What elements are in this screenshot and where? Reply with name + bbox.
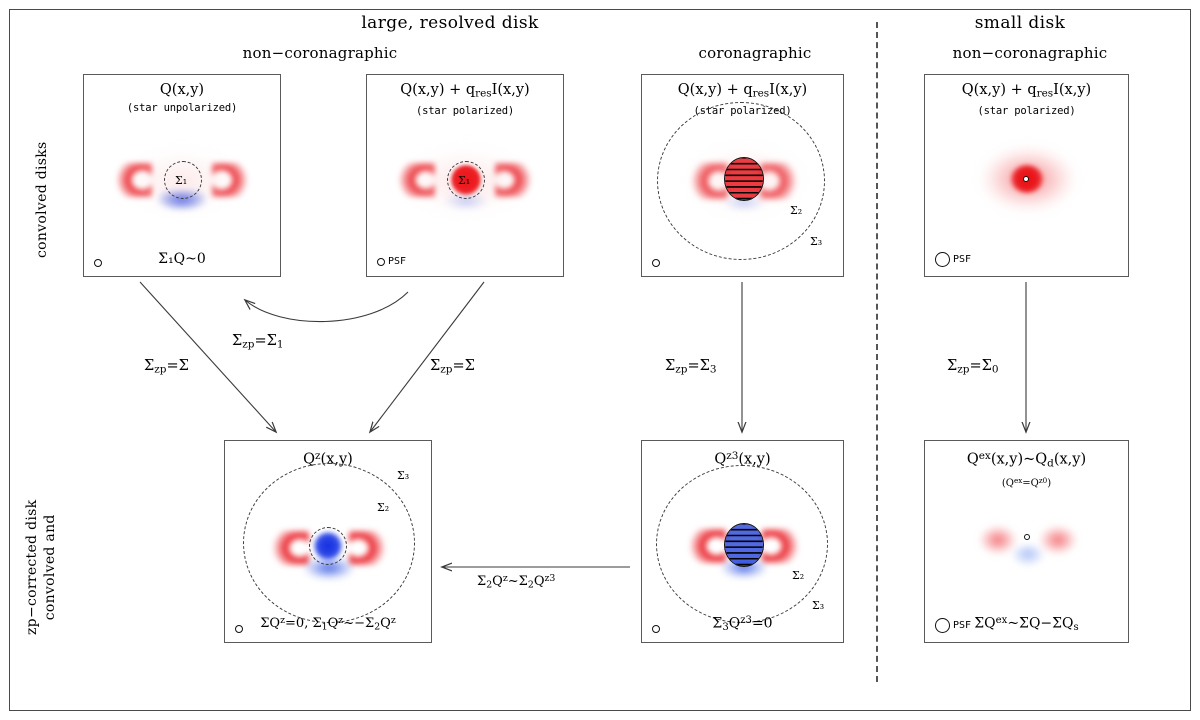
aperture-sigma1-label: Σ₁ xyxy=(458,174,470,187)
arrow-label-zp-sigma-0: Σzp=Σ0 xyxy=(947,358,999,376)
psf-marker-qex: PSF xyxy=(935,618,971,633)
red-lobe-right xyxy=(1041,527,1075,553)
row-label-zp-corrected: zp−corrected disk convolved and xyxy=(24,500,59,635)
sigma2-label: Σ₂ xyxy=(792,569,804,582)
disk-image-q-polarized: Σ₁ xyxy=(367,75,563,276)
psf-marker-coronagraphic xyxy=(652,259,663,267)
coronagraph-mask-icon xyxy=(724,523,764,567)
section-divider xyxy=(876,22,878,682)
disk-image-qz: Σ₃ Σ₂ xyxy=(225,441,431,642)
row-label-zp-line2: zp−corrected disk xyxy=(24,500,42,635)
psf-circle-icon xyxy=(94,259,102,267)
psf-marker-small-disk: PSF xyxy=(935,252,971,267)
star-center-dot xyxy=(1024,534,1030,540)
red-lobe-right xyxy=(762,529,808,563)
arrow-label-zp-sigma-mid: Σzp=Σ xyxy=(430,358,475,376)
psf-circle-icon xyxy=(235,625,243,633)
row-label-zp-line1: convolved and xyxy=(42,500,60,635)
arrow-label-zp-sigma-3: Σzp=Σ3 xyxy=(665,358,717,376)
panel-qz3: Qz3(x,y) xyxy=(641,440,844,643)
psf-marker-label: PSF xyxy=(953,620,971,631)
group-title-small-disk: small disk xyxy=(900,13,1140,33)
mask-hatch-lines xyxy=(724,157,764,201)
psf-circle-icon xyxy=(652,625,660,633)
psf-circle-icon xyxy=(377,258,385,266)
arrow-label-zp-sigma-left: Σzp=Σ xyxy=(144,358,189,376)
figure-root: large, resolved disk small disk non−coro… xyxy=(0,0,1200,720)
disk-image-q-unpolarized: Σ₁ xyxy=(84,75,280,276)
disk-image-qex xyxy=(925,441,1128,642)
column-title-noncoronagraphic-left: non−coronagraphic xyxy=(75,44,565,62)
panel-q-polarized: Q(x,y) + qresI(x,y) (star polarized) Σ₁ … xyxy=(366,74,564,277)
disk-image-qz3: Σ₂ Σ₃ xyxy=(642,441,843,642)
aperture-sigma1-label: Σ₁ xyxy=(175,174,187,187)
panel-qz3-footer: Σ3Qz3=0 xyxy=(642,615,843,633)
sigma2-label: Σ₂ xyxy=(377,501,389,514)
aperture-sigma1 xyxy=(309,527,347,565)
disk-image-coronagraphic: Σ₂ Σ₃ xyxy=(642,75,843,276)
psf-marker-qz xyxy=(235,625,246,633)
psf-circle-icon xyxy=(935,618,950,633)
sigma3-label: Σ₃ xyxy=(397,469,409,482)
sigma3-label: Σ₃ xyxy=(812,599,824,612)
panel-qex: Qex(x,y)~Qd(x,y) (Qex=Qz0) ΣQex~ΣQ−ΣQs P… xyxy=(924,440,1129,643)
mask-hatch-lines xyxy=(724,523,764,567)
column-title-noncoronagraphic-right: non−coronagraphic xyxy=(905,44,1155,62)
column-title-coronagraphic: coronagraphic xyxy=(630,44,880,62)
panel-qz: Qz(x,y) Σ₃ Σ₂ ΣQz=0, Σ1Qz~−Σ2Qz xyxy=(224,440,432,643)
psf-marker-label: PSF xyxy=(953,254,971,265)
panel-coronagraphic: Q(x,y) + qresI(x,y) (star polarized) xyxy=(641,74,844,277)
sigma2-label: Σ₂ xyxy=(790,204,802,217)
psf-circle-icon xyxy=(652,259,660,267)
star-center-dot xyxy=(1023,176,1029,182)
psf-marker-q-unpolarized xyxy=(94,259,105,267)
psf-marker-label: PSF xyxy=(388,256,406,267)
arrow-label-zp-sigma-1: Σzp=Σ1 xyxy=(232,333,284,351)
group-title-large-resolved-disk: large, resolved disk xyxy=(190,13,710,33)
psf-marker-q-polarized: PSF xyxy=(377,256,406,267)
coronagraph-mask-icon xyxy=(724,157,764,201)
row-label-convolved-disks: convolved disks xyxy=(34,142,50,259)
panel-small-disk: Q(x,y) + qresI(x,y) (star polarized) PSF xyxy=(924,74,1129,277)
disk-image-small-disk xyxy=(925,75,1128,276)
psf-circle-icon xyxy=(935,252,950,267)
panel-qz-footer: ΣQz=0, Σ1Qz~−Σ2Qz xyxy=(225,615,431,633)
arrow-label-sigma2-equivalence: Σ2Qz~Σ2Qz3 xyxy=(477,573,555,591)
panel-q-unpolarized: Q(x,y) (star unpolarized) Σ₁ Σ₁Q~0 xyxy=(83,74,281,277)
red-lobe-left xyxy=(981,527,1015,553)
psf-marker-qz3 xyxy=(652,625,663,633)
red-lobe-left xyxy=(680,529,726,563)
panel-q-unpolarized-footer: Σ₁Q~0 xyxy=(84,251,280,267)
red-lobe-right xyxy=(349,531,395,565)
blue-lobe xyxy=(1013,545,1043,565)
red-lobe-left xyxy=(263,531,309,565)
sigma3-label: Σ₃ xyxy=(810,235,822,248)
